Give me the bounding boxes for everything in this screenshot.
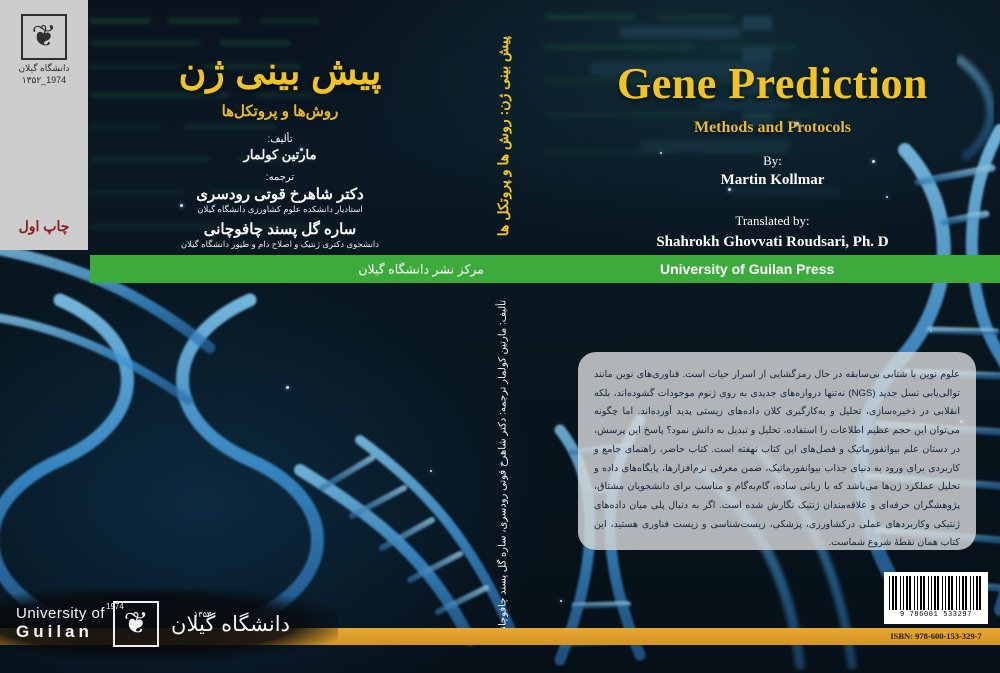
university-name-fa: دانشگاه گیلان bbox=[171, 612, 290, 637]
emblem-frame: ❦ bbox=[21, 14, 67, 60]
book-subtitle-en: Methods and Protocols bbox=[545, 119, 1000, 137]
publisher-name-en: University of Guilan Press bbox=[660, 261, 834, 277]
author-label-fa: تألیف: bbox=[95, 134, 465, 145]
isbn-label: ISBN: 978-600-153-329-7 bbox=[872, 629, 1000, 644]
spine-authors-fa: تألیف: مارتین کولمار ترجمه: دکتر شاهرخ ق… bbox=[498, 300, 509, 637]
left-flap: ❦ دانشگاه گیلان ۱۳۵۲_1974 چاپ اول bbox=[0, 0, 88, 250]
university-logo: University of Guilan 1974 ❦ ۱۳۵۳ دانشگاه… bbox=[0, 588, 338, 660]
barcode-digits: 9 786001 533297 bbox=[889, 611, 983, 619]
translator-label-en: Translated by: bbox=[545, 213, 1000, 229]
spine-title-fa: پیش بینی ژن: روش ها و پروتکل ها bbox=[495, 36, 511, 236]
author-name-en: Martin Kollmar bbox=[545, 172, 1000, 189]
flap-founding-years: ۱۳۵۲_1974 bbox=[13, 75, 75, 86]
book-cover: ❦ دانشگاه گیلان ۱۳۵۲_1974 چاپ اول پیش بی… bbox=[0, 0, 1000, 673]
book-title-en: Gene Prediction bbox=[545, 58, 1000, 109]
translator-1-affiliation-fa: استادیار دانشکده علوم کشاورزی دانشگاه گی… bbox=[95, 204, 465, 215]
author-label-en: By: bbox=[545, 153, 1000, 169]
university-name-line1: University of bbox=[16, 606, 105, 623]
flap-university-emblem: ❦ دانشگاه گیلان ۱۳۵۲_1974 bbox=[13, 14, 75, 86]
university-name-en: University of Guilan bbox=[16, 606, 105, 641]
book-spine: پیش بینی ژن: روش ها و پروتکل ها تألیف: م… bbox=[466, 0, 540, 673]
publisher-band: مرکز نشر دانشگاه گیلان University of Gui… bbox=[90, 255, 1000, 283]
emblem-icon: ❦ bbox=[31, 22, 56, 52]
front-cover-header: Gene Prediction Methods and Protocols By… bbox=[545, 0, 1000, 255]
translator-label-fa: ترجمه: bbox=[95, 172, 465, 183]
translator-2-affiliation-fa: دانشجوی دکتری ژنتیک و اصلاح دام و طیور د… bbox=[95, 239, 465, 250]
translator-1-en: Shahrokh Ghovvati Roudsari, Ph. D bbox=[545, 232, 1000, 254]
barcode-bars bbox=[889, 576, 983, 610]
book-title-fa: پیش بینی ژن bbox=[95, 52, 465, 94]
edition-label: چاپ اول bbox=[0, 218, 88, 235]
back-cover-description: علوم نوین با شتابی بی‌سابقه در حال رمزگش… bbox=[578, 352, 976, 550]
translator-1-fa: دکتر شاهرخ قوتی رودسری bbox=[95, 185, 465, 203]
university-name-line2: Guilan bbox=[16, 623, 105, 642]
university-year-en: 1974 bbox=[106, 602, 124, 611]
university-year-fa: ۱۳۵۳ bbox=[194, 610, 211, 619]
barcode: 9 786001 533297 bbox=[884, 572, 988, 624]
author-name-fa: مارتین کولمار bbox=[95, 147, 465, 163]
publisher-name-fa: مرکز نشر دانشگاه گیلان bbox=[358, 262, 484, 277]
back-cover-header: پیش بینی ژن روش‌ها و پروتکل‌ها تألیف: ما… bbox=[95, 0, 465, 255]
flap-university-name-fa: دانشگاه گیلان bbox=[13, 63, 75, 74]
book-subtitle-fa: روش‌ها و پروتکل‌ها bbox=[95, 102, 465, 120]
translator-2-fa: ساره گل پسند چافوچانی bbox=[95, 220, 465, 238]
